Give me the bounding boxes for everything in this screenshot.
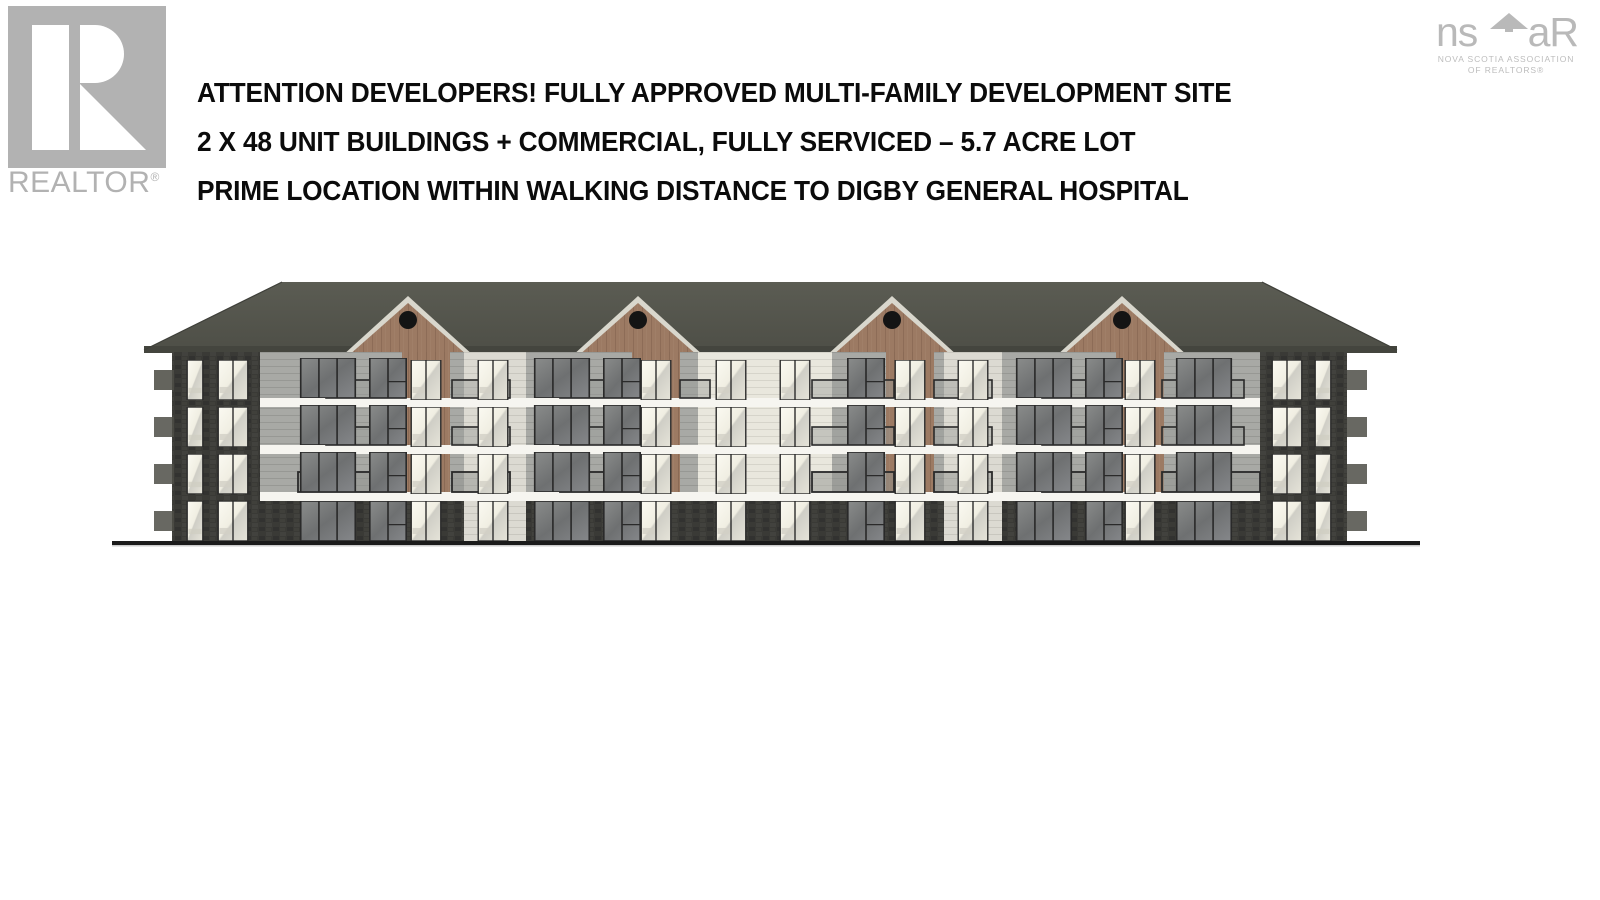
nsar-subtitle-line-1: NOVA SCOTIA ASSOCIATION: [1430, 54, 1582, 65]
headline-block: ATTENTION DEVELOPERS! FULLY APPROVED MUL…: [197, 68, 1377, 215]
ground-line: [112, 541, 1420, 545]
realtor-r-gap: [69, 25, 80, 150]
realtor-logo: REALTOR®: [8, 6, 178, 211]
roof-group: [144, 282, 1397, 353]
headline-line-1: ATTENTION DEVELOPERS! FULLY APPROVED MUL…: [197, 68, 1324, 117]
nsar-mark-left: ns: [1436, 10, 1477, 54]
nsar-subtitle-line-2: OF REALTORS®: [1430, 65, 1582, 76]
roof-eave-band: [144, 346, 1397, 353]
realtor-wordmark: REALTOR®: [8, 166, 188, 200]
nsar-wordmark: ns aR: [1430, 8, 1582, 54]
realtor-registered-mark: ®: [150, 170, 159, 184]
gable-vent-3: [883, 311, 901, 329]
house-roof-icon: [1490, 13, 1528, 43]
nsar-mark-right: aR: [1528, 10, 1578, 54]
realtor-r-stem: [32, 25, 69, 150]
realtor-r-bowl-hole: [80, 25, 124, 83]
headline-line-2: 2 X 48 UNIT BUILDINGS + COMMERCIAL, FULL…: [197, 117, 1324, 166]
realtor-r-mark-icon: [8, 6, 166, 168]
gable-vent-1: [399, 311, 417, 329]
realtor-wordmark-text: REALTOR: [8, 166, 150, 199]
floor-band-3: [260, 492, 1260, 501]
main-hip-roof: [144, 282, 1397, 350]
realtor-r-leg-cut: [80, 84, 146, 150]
ground-line-group: [112, 541, 1420, 547]
headline-line-3: PRIME LOCATION WITHIN WALKING DISTANCE T…: [197, 166, 1324, 215]
house-chimney-shape: [1505, 25, 1513, 32]
gable-vent-4: [1113, 311, 1131, 329]
gable-vent-2: [629, 311, 647, 329]
flyer-page: REALTOR® ATTENTION DEVELOPERS! FULLY APP…: [0, 0, 1600, 900]
building-elevation-render: [112, 262, 1422, 562]
nsar-logo: ns aR NOVA SCOTIA ASSOCIATION OF REALTOR…: [1430, 8, 1582, 84]
